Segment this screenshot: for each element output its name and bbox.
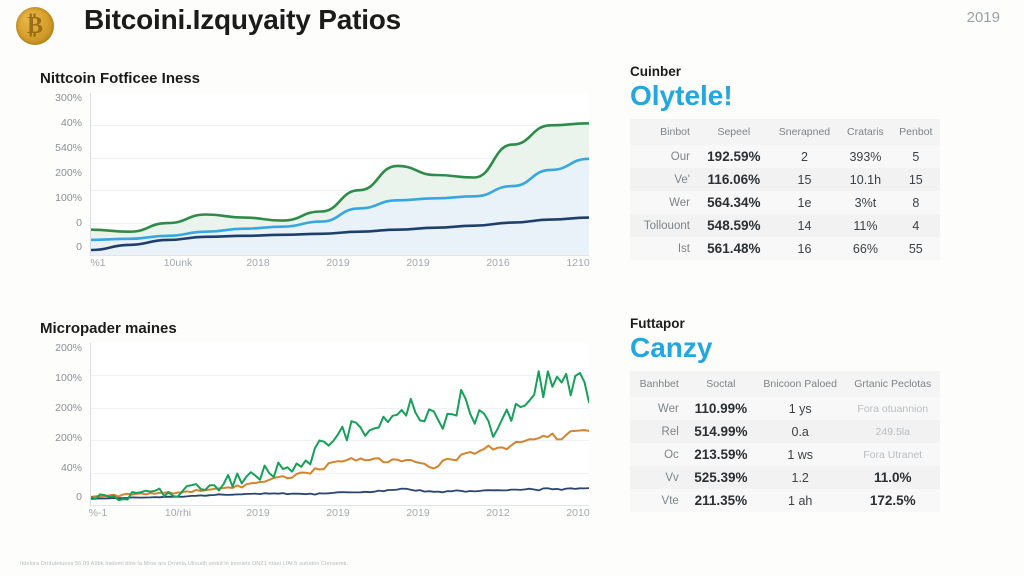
table-row: Wer 110.99% 1 ys Fora otuannion [630, 397, 940, 420]
table-row: Vte 211.35% 1 ah 172.5% [630, 489, 940, 512]
cell-value: 5 [892, 145, 940, 168]
cell-value: 211.35% [687, 489, 755, 512]
cell-value: 561.48% [698, 237, 770, 260]
table-row: Vv 525.39% 1.2 11.0% [630, 466, 940, 489]
card-1-label: Cuinber [630, 64, 950, 79]
chart-block-1: Nittcoin Fotficee Iness 300% 40% 540% 20… [28, 70, 598, 285]
cell-value: 3%t [839, 191, 891, 214]
column-header: Bnicoon Paloed [755, 371, 846, 397]
x-tick: 2019 [326, 507, 349, 519]
cell-value: 548.59% [698, 214, 770, 237]
table-row: Tollouont 548.59% 14 11% 4 [630, 214, 940, 237]
column-header: Crataris [839, 119, 891, 145]
table-row: Ist 561.48% 16 66% 55 [630, 237, 940, 260]
row-label: Tollouont [630, 214, 698, 237]
column-header: Soctal [687, 371, 755, 397]
x-tick: 1210 [566, 257, 589, 269]
cell-value: Fora otuannion [846, 397, 941, 420]
chart-2-y-axis: 200% 100% 200% 200% 40% 0 [28, 343, 82, 503]
row-label: Oc [630, 443, 687, 466]
chart-1-x-axis: %110unk20182019201920161210 [90, 257, 588, 275]
card-1-table-body: Our 192.59% 2 393% 5 Ve' 116.06% 15 10.1… [630, 145, 940, 260]
cell-value: 16 [770, 237, 840, 260]
column-header: Penbot [892, 119, 940, 145]
cell-value: 66% [839, 237, 891, 260]
row-label: Wer [630, 397, 687, 420]
cell-value: 10.1h [839, 168, 891, 191]
cell-value: 8 [892, 191, 940, 214]
table-header-row: Binbot Sepeel Snerapned Crataris Penbot [630, 119, 940, 145]
table-row: Wer 564.34% 1e 3%t 8 [630, 191, 940, 214]
x-tick: 2019 [246, 507, 269, 519]
table-row: Our 192.59% 2 393% 5 [630, 145, 940, 168]
page-title: Bitcoini.Izquyaity Patios [84, 4, 401, 36]
row-label: Vv [630, 466, 687, 489]
cell-value: 172.5% [846, 489, 941, 512]
row-label: Ist [630, 237, 698, 260]
cell-value: 110.99% [687, 397, 755, 420]
column-header: Sepeel [698, 119, 770, 145]
chart-1-title: Nittcoin Fotficee Iness [40, 70, 598, 87]
column-header: Banhbet [630, 371, 687, 397]
x-tick: %-1 [89, 507, 108, 519]
table-row: Rel 514.99% 0.a 249.5la [630, 420, 940, 443]
table-header-row: Banhbet Soctal Bnicoon Paloed Grtanic Pe… [630, 371, 940, 397]
x-tick: 2010 [566, 507, 589, 519]
cell-value: 192.59% [698, 145, 770, 168]
cell-value: 1e [770, 191, 840, 214]
column-header: Snerapned [770, 119, 840, 145]
card-2-label: Futtapor [630, 316, 950, 331]
y-tick: 40% [61, 463, 82, 474]
x-tick: 2012 [486, 507, 509, 519]
summary-card-2: Futtapor Canzy Banhbet Soctal Bnicoon Pa… [630, 316, 950, 512]
cell-value: 564.34% [698, 191, 770, 214]
x-tick: 2016 [486, 257, 509, 269]
cell-value: 15 [770, 168, 840, 191]
cell-value: 1 ah [755, 489, 846, 512]
cell-value: 1.2 [755, 466, 846, 489]
x-tick: 2019 [406, 257, 429, 269]
y-tick: 200% [55, 168, 82, 179]
bitcoin-glyph: ₿ [16, 7, 54, 45]
row-label: Rel [630, 420, 687, 443]
cell-value: 14 [770, 214, 840, 237]
cell-value: 249.5la [846, 420, 941, 443]
chart-2-title: Micropader maines [40, 320, 598, 337]
chart-2-svg [91, 343, 589, 505]
x-tick: 2019 [326, 257, 349, 269]
y-tick: 200% [55, 343, 82, 354]
row-label: Vte [630, 489, 687, 512]
x-tick: 2019 [406, 507, 429, 519]
cell-value: 525.39% [687, 466, 755, 489]
y-tick: 540% [55, 143, 82, 154]
cell-value: 55 [892, 237, 940, 260]
cell-value: 116.06% [698, 168, 770, 191]
x-tick: 10unk [164, 257, 193, 269]
y-tick: 100% [55, 193, 82, 204]
chart-2-canvas [90, 343, 589, 506]
page-header: ₿ Bitcoini.Izquyaity Patios 2019 [0, 0, 1024, 52]
x-tick: %1 [90, 257, 105, 269]
cell-value: 15 [892, 168, 940, 191]
cell-value: 0.a [755, 420, 846, 443]
y-tick: 0 [76, 492, 82, 503]
cell-value: 4 [892, 214, 940, 237]
chart-block-2: Micropader maines 200% 100% 200% 200% 40… [28, 320, 598, 535]
bitcoin-coin-icon: ₿ [16, 7, 54, 45]
x-tick: 10/rhi [165, 507, 191, 519]
chart-1-y-axis: 300% 40% 540% 200% 100% 0 0 [28, 93, 82, 253]
row-label: Our [630, 145, 698, 168]
x-tick: 2018 [246, 257, 269, 269]
column-header: Binbot [630, 119, 698, 145]
y-tick: 0 [76, 218, 82, 229]
cell-value: Fora Utranet [846, 443, 941, 466]
cell-value: 11% [839, 214, 891, 237]
card-1-headline: Olytele! [630, 81, 950, 110]
summary-card-1: Cuinber Olytele! Binbot Sepeel Snerapned… [630, 64, 950, 260]
year-label: 2019 [967, 9, 1000, 26]
chart-1-plot-area: 300% 40% 540% 200% 100% 0 0 %110unk20182… [28, 93, 598, 273]
chart-1-svg [91, 93, 589, 255]
card-2-table: Banhbet Soctal Bnicoon Paloed Grtanic Pe… [630, 371, 940, 512]
row-label: Ve' [630, 168, 698, 191]
chart-1-canvas [90, 93, 589, 256]
column-header: Grtanic Peclotas [846, 371, 941, 397]
table-row: Oc 213.59% 1 ws Fora Utranet [630, 443, 940, 466]
footnote: Itdelora Drntutetuees 56.09 A9bk Ineloml… [20, 561, 620, 568]
y-tick: 40% [61, 118, 82, 129]
card-2-headline: Canzy [630, 333, 950, 362]
cell-value: 213.59% [687, 443, 755, 466]
chart-2-plot-area: 200% 100% 200% 200% 40% 0 %-110/rhi20192… [28, 343, 598, 523]
cell-value: 393% [839, 145, 891, 168]
cell-value: 1 ys [755, 397, 846, 420]
chart-2-x-axis: %-110/rhi20192019201920122010 [90, 507, 588, 525]
y-tick: 200% [55, 403, 82, 414]
cell-value: 1 ws [755, 443, 846, 466]
cell-value: 514.99% [687, 420, 755, 443]
y-tick: 0 [76, 242, 82, 253]
row-label: Wer [630, 191, 698, 214]
y-tick: 300% [55, 93, 82, 104]
table-row: Ve' 116.06% 15 10.1h 15 [630, 168, 940, 191]
y-tick: 200% [55, 433, 82, 444]
y-tick: 100% [55, 373, 82, 384]
card-1-table-head: Binbot Sepeel Snerapned Crataris Penbot [630, 119, 940, 145]
cell-value: 11.0% [846, 466, 941, 489]
card-2-table-body: Wer 110.99% 1 ys Fora otuannion Rel 514.… [630, 397, 940, 512]
card-1-table: Binbot Sepeel Snerapned Crataris Penbot … [630, 119, 940, 260]
cell-value: 2 [770, 145, 840, 168]
card-2-table-head: Banhbet Soctal Bnicoon Paloed Grtanic Pe… [630, 371, 940, 397]
